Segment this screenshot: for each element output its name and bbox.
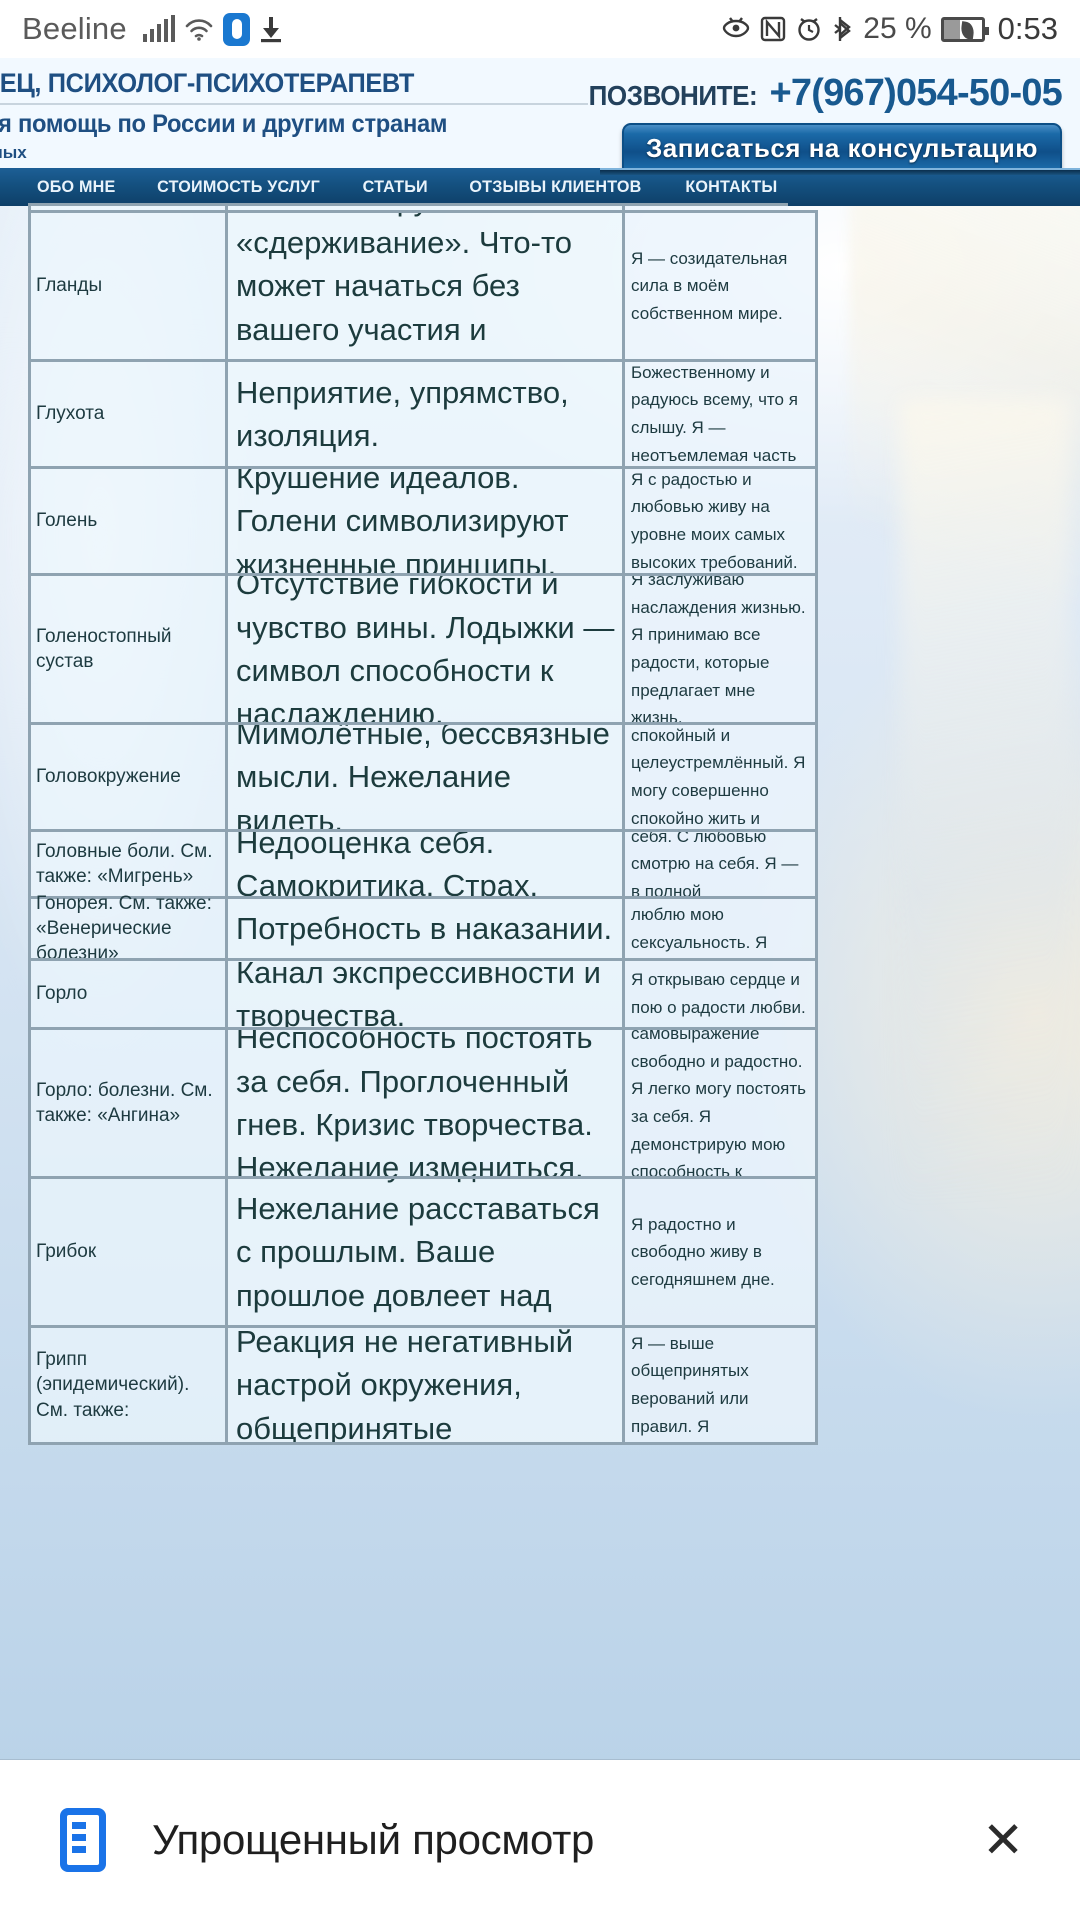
nav-item-about[interactable]: ОБО МНЕ — [37, 177, 150, 197]
download-arrow-icon — [259, 15, 283, 43]
probable-cause: Символизируют «сдерживание». Что-то може… — [225, 210, 625, 362]
table-row[interactable]: Голеностопный сустав Отсутствие гибкости… — [28, 573, 788, 725]
eye-care-icon — [721, 15, 751, 43]
table-row[interactable]: Грибок Отсталые убеждения. Нежелание рас… — [28, 1176, 788, 1328]
book-consultation-button[interactable]: Записаться на консультацию — [622, 123, 1062, 168]
web-page-viewport[interactable]: ДЕЛЕЦ, ПСИХОЛОГ-ПСИХОТЕРАПЕВТ еская помо… — [0, 58, 1080, 1800]
condition-name: Глухота — [28, 359, 228, 469]
new-affirmation: Я с радостью и любовью живу на уровне мо… — [622, 466, 818, 576]
table-row[interactable]: Голень Крушение идеалов. Голени символиз… — [28, 466, 788, 576]
probable-cause: Отсталые убеждения. Нежелание расставать… — [225, 1176, 625, 1328]
condition-name: Горло: болезни. См. также: «Ангина» — [28, 1027, 228, 1179]
site-contact-block: ПОЗВОНИТЕ: +7(967)054-50-05 Записаться н… — [502, 72, 1062, 168]
phone-number-link[interactable]: +7(967)054-50-05 — [770, 72, 1062, 115]
nav-item-contacts[interactable]: КОНТАКТЫ — [685, 177, 811, 197]
condition-name: Головокружение — [28, 722, 228, 832]
condition-name: Грибок — [28, 1176, 228, 1328]
probable-cause: Недооценка себя. Самокритика. Страх. — [225, 829, 625, 899]
main-navigation[interactable]: ДЕ ОБО МНЕ СТОИМОСТЬ УСЛУГ СТАТЬИ ОТЗЫВЫ… — [0, 168, 1080, 206]
status-left-icons — [143, 13, 284, 46]
condition-name: Головные боли. См. также: «Мигрень» — [28, 829, 228, 899]
probable-cause: Крушение идеалов. Голени символизируют ж… — [225, 466, 625, 576]
signal-bars-icon — [143, 16, 176, 42]
condition-name: Горло — [28, 958, 228, 1030]
nav-item-articles[interactable]: СТАТЬИ — [362, 177, 461, 197]
new-affirmation: Я радостно и свободно живу в сегодняшнем… — [622, 1176, 818, 1328]
status-clock: 0:53 — [998, 11, 1058, 47]
android-status-bar: Beeline 25 % 0:53 — [0, 0, 1080, 58]
probable-cause: Потребность в наказании. — [225, 896, 625, 961]
blue-app-badge-icon — [223, 13, 250, 46]
nfc-icon — [760, 15, 786, 43]
table-row[interactable]: Головные боли. См. также: «Мигрень» Недо… — [28, 829, 788, 899]
header-divider — [0, 103, 588, 105]
condition-name: Гонорея. См. также: «Венерические болезн… — [28, 896, 228, 961]
probable-cause: Неспособность постоять за себя. Проглоче… — [225, 1027, 625, 1179]
condition-name: Голеностопный сустав — [28, 573, 228, 725]
table-row[interactable]: Гланды Символизируют «сдерживание». Что-… — [28, 210, 788, 362]
reader-mode-label[interactable]: Упрощенный просмотр — [152, 1816, 594, 1864]
new-affirmation: Я — выше общепринятых верований или прав… — [622, 1325, 818, 1445]
new-affirmation: Я открываю сердце и пою о радости любви. — [622, 958, 818, 1030]
table-row[interactable]: Грипп (эпидемический). См. также: Реакци… — [28, 1325, 788, 1445]
louise-hay-table: Гланды Символизируют «сдерживание». Что-… — [28, 203, 788, 1445]
condition-name: Голень — [28, 466, 228, 576]
probable-cause: Неприятие, упрямство, изоляция. — [225, 359, 625, 469]
nav-item-reviews[interactable]: ОТЗЫВЫ КЛИЕНТОВ — [470, 177, 676, 197]
status-right-icons: 25 % 0:53 — [721, 11, 1058, 47]
close-icon[interactable]: ✕ — [970, 1809, 1036, 1871]
reader-mode-icon — [60, 1808, 106, 1872]
phone-row: ПОЗВОНИТЕ: +7(967)054-50-05 — [502, 72, 1062, 115]
probable-cause: Отсутствие гибкости и чувство вины. Лоды… — [225, 573, 625, 725]
new-affirmation: Шуметь не запрещается. Моё самовыражение… — [622, 1027, 818, 1179]
probable-cause: Мимолётные, бессвязные мысли. Нежелание … — [225, 722, 625, 832]
alarm-clock-icon — [795, 15, 823, 43]
new-affirmation: В жизни я — человек спокойный и целеустр… — [622, 722, 818, 832]
content-area: Гланды Символизируют «сдерживание». Что-… — [0, 203, 1080, 1445]
new-affirmation: Я прислушиваюсь к Божественному и радуюс… — [622, 359, 818, 469]
site-header: ДЕЛЕЦ, ПСИХОЛОГ-ПСИХОТЕРАПЕВТ еская помо… — [0, 58, 1080, 168]
wifi-icon — [184, 16, 214, 42]
probable-cause: Канал экспрессивности и творчества. — [225, 958, 625, 1030]
table-row[interactable]: Головокружение Мимолётные, бессвязные мы… — [28, 722, 788, 832]
battery-percent-label: 25 % — [863, 12, 931, 46]
battery-saver-icon — [941, 17, 985, 42]
call-label: ПОЗВОНИТЕ: — [589, 80, 758, 112]
table-row[interactable]: Горло Канал экспрессивности и творчества… — [28, 958, 788, 1030]
nav-item-pricing[interactable]: СТОИМОСТЬ УСЛУГ — [158, 177, 355, 197]
new-affirmation: Я заслуживаю наслаждения жизнью. Я прини… — [622, 573, 818, 725]
table-row[interactable]: Горло: болезни. См. также: «Ангина» Несп… — [28, 1027, 788, 1179]
bluetooth-icon — [832, 15, 854, 43]
condition-name: Грипп (эпидемический). См. также: — [28, 1325, 228, 1445]
new-affirmation: Я — созидательная сила в моём собственно… — [622, 210, 818, 362]
carrier-name: Beeline — [22, 11, 127, 47]
nav-item-home[interactable]: ДЕ — [0, 177, 32, 197]
table-row[interactable]: Глухота Неприятие, упрямство, изоляция. … — [28, 359, 788, 469]
new-affirmation: Я люблю моё тело. Я люблю мою сексуально… — [622, 896, 818, 961]
probable-cause: Реакция не негативный настрой окружения,… — [225, 1325, 625, 1445]
new-affirmation: Я люблю и одобряю себя. С любовью смотрю… — [622, 829, 818, 899]
condition-name: Гланды — [28, 210, 228, 362]
reader-mode-prompt-bar: Упрощенный просмотр ✕ — [0, 1760, 1080, 1920]
table-row[interactable]: Гонорея. См. также: «Венерические болезн… — [28, 896, 788, 961]
